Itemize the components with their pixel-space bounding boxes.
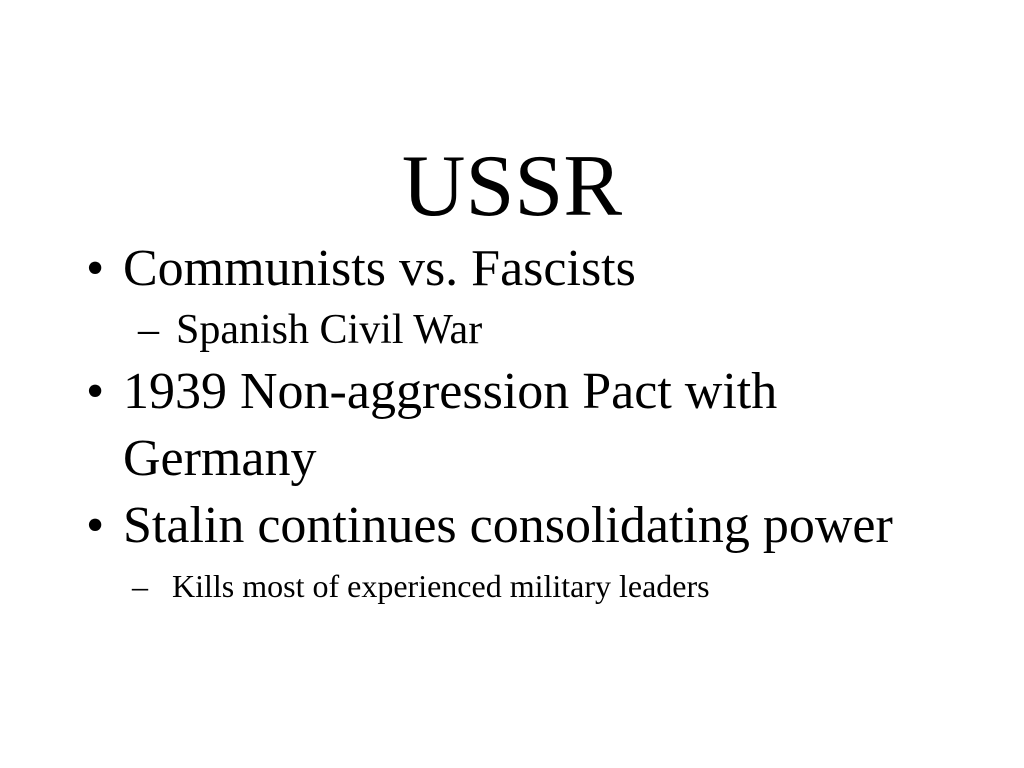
bullet-item-2: • 1939 Non-aggression Pact with Germany: [86, 359, 916, 492]
bullet-item-label: 1939 Non-aggression Pact with Germany: [123, 359, 916, 492]
bullet-item-3: • Stalin continues consolidating power: [86, 493, 916, 560]
bullet-point-icon: •: [86, 359, 116, 426]
sub-bullet-item-1: – Spanish Civil War: [86, 304, 916, 358]
bullet-item-label: Stalin continues consolidating power: [123, 493, 916, 560]
sub-bullet-item-label: Kills most of experienced military leade…: [172, 568, 710, 604]
presentation-slide: USSR • Communists vs. Fascists – Spanish…: [0, 0, 1024, 768]
dash-bullet-icon: –: [138, 304, 159, 358]
dash-bullet-icon: –: [132, 566, 148, 608]
sub-bullet-item-label: Spanish Civil War: [176, 307, 482, 353]
bullet-point-icon: •: [86, 236, 116, 303]
bullet-item-label: Communists vs. Fascists: [123, 236, 916, 303]
bullet-item-1: • Communists vs. Fascists: [86, 236, 916, 303]
bullet-list: • Communists vs. Fascists – Spanish Civi…: [86, 236, 916, 608]
sub-bullet-item-2: – Kills most of experienced military lea…: [86, 566, 916, 608]
slide-body: • Communists vs. Fascists – Spanish Civi…: [86, 236, 916, 610]
bullet-point-icon: •: [86, 493, 116, 560]
slide-title: USSR: [0, 143, 1024, 231]
